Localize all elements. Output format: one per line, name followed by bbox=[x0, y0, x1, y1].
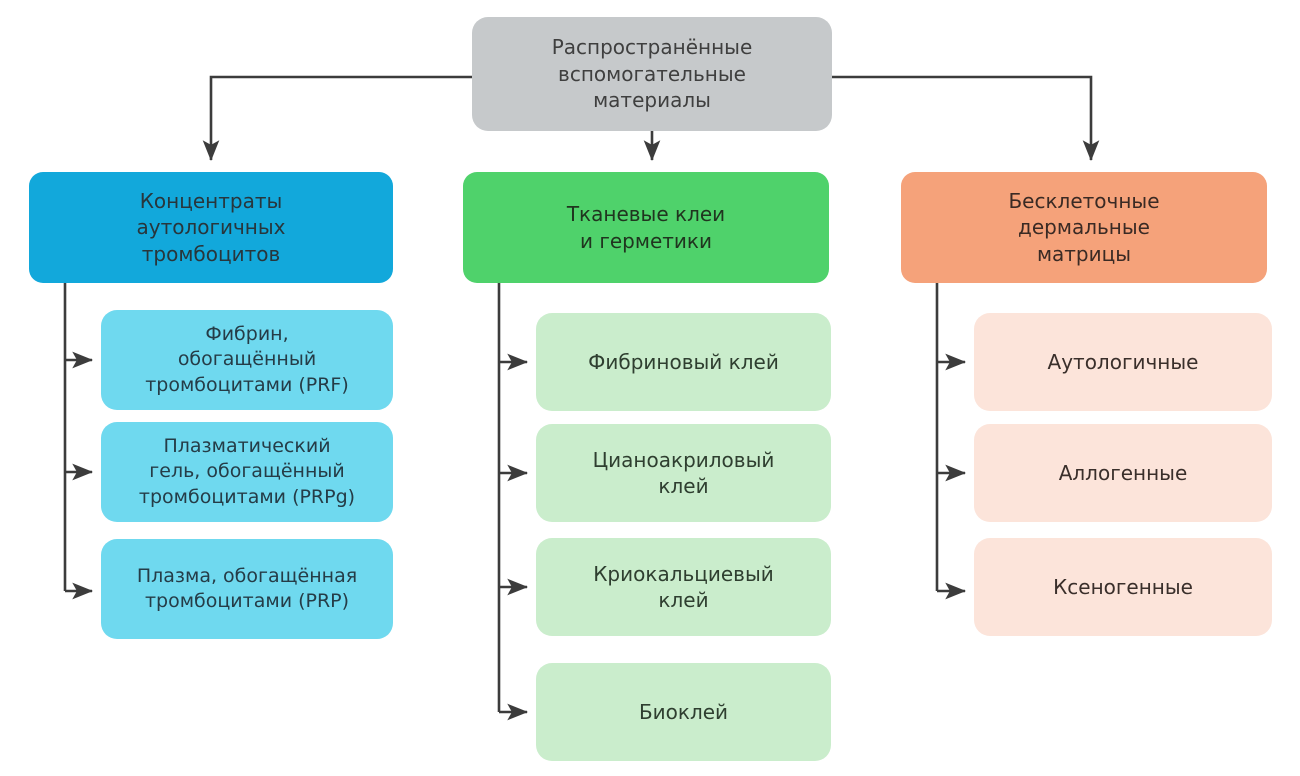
leaf-node-bioglue[interactable]: Биоклей bbox=[536, 663, 831, 761]
column-header-acellular-dermal-matrices[interactable]: Бесклеточные дермальные матрицы bbox=[901, 172, 1267, 283]
column-header-platelet-concentrates[interactable]: Концентраты аутологичных тромбоцитов bbox=[29, 172, 393, 283]
leaf-node-prpg[interactable]: Плазматический гель, обогащённый тромбоц… bbox=[101, 422, 393, 522]
leaf-node-prf[interactable]: Фибрин, обогащённый тромбоцитами (PRF) bbox=[101, 310, 393, 410]
leaf-node-xenogeneic[interactable]: Ксеногенные bbox=[974, 538, 1272, 636]
leaf-node-autologous[interactable]: Аутологичные bbox=[974, 313, 1272, 411]
edge-root-to-col1 bbox=[211, 77, 472, 160]
diagram-canvas: Распространённые вспомогательные материа… bbox=[0, 0, 1300, 776]
leaf-node-prp[interactable]: Плазма, обогащённая тромбоцитами (PRP) bbox=[101, 539, 393, 639]
leaf-node-allogeneic[interactable]: Аллогенные bbox=[974, 424, 1272, 522]
root-node[interactable]: Распространённые вспомогательные материа… bbox=[472, 17, 832, 131]
column-header-tissue-adhesives[interactable]: Тканевые клеи и герметики bbox=[463, 172, 829, 283]
leaf-node-cryocalcium-glue[interactable]: Криокальциевый клей bbox=[536, 538, 831, 636]
leaf-node-cyanoacrylate-glue[interactable]: Цианоакриловый клей bbox=[536, 424, 831, 522]
edge-root-to-col3 bbox=[832, 77, 1091, 160]
leaf-node-fibrin-glue[interactable]: Фибриновый клей bbox=[536, 313, 831, 411]
